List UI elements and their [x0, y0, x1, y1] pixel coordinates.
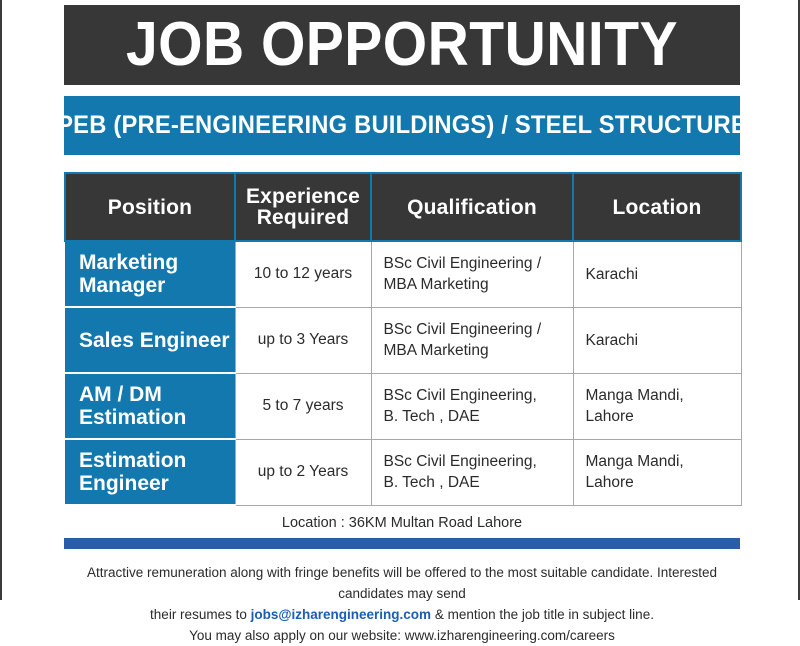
qualification-line2: MBA Marketing [384, 274, 573, 295]
cell-qualification: BSc Civil Engineering / MBA Marketing [371, 307, 573, 373]
cell-position: AM / DM Estimation [65, 373, 235, 439]
cell-experience: 10 to 12 years [235, 241, 371, 307]
content-column: JOB OPPORTUNITY PEB (PRE-ENGINEERING BUI… [64, 0, 740, 646]
position-line1: AM / DM [79, 383, 162, 406]
location-line1: Karachi [586, 266, 639, 283]
location-line2: Lahore [586, 472, 741, 493]
cell-location: Manga Mandi, Lahore [573, 373, 741, 439]
position-line1: Marketing [79, 251, 178, 274]
position-line1: Sales Engineer [79, 329, 230, 352]
job-advertisement-page: JOB OPPORTUNITY PEB (PRE-ENGINEERING BUI… [0, 0, 800, 600]
qualification-line2: B. Tech , DAE [384, 406, 573, 427]
table-row: Marketing Manager 10 to 12 years BSc Civ… [65, 241, 741, 307]
page-subtitle: PEB (PRE-ENGINEERING BUILDINGS) / STEEL … [57, 112, 747, 139]
footer: Attractive remuneration along with fring… [64, 562, 740, 646]
subtitle-banner: PEB (PRE-ENGINEERING BUILDINGS) / STEEL … [64, 96, 740, 155]
qualification-line1: BSc Civil Engineering, [384, 453, 537, 470]
table-header: Position Experience Required Qualificati… [65, 173, 741, 241]
column-header-location-label: Location [612, 196, 701, 219]
footer-line-1: Attractive remuneration along with fring… [64, 562, 740, 604]
footer-line-2: their resumes to jobs@izharengineering.c… [64, 604, 740, 625]
table-row: Estimation Engineer up to 2 Years BSc Ci… [65, 439, 741, 505]
footer-line-3: You may also apply on our website: www.i… [64, 625, 740, 646]
table-body: Marketing Manager 10 to 12 years BSc Civ… [65, 241, 741, 505]
qualification-line2: MBA Marketing [384, 340, 573, 361]
qualification-line1: BSc Civil Engineering / [384, 321, 542, 338]
cell-qualification: BSc Civil Engineering / MBA Marketing [371, 241, 573, 307]
cell-location: Karachi [573, 241, 741, 307]
column-header-qualification: Qualification [371, 173, 573, 241]
table-header-row: Position Experience Required Qualificati… [65, 173, 741, 241]
table-row: AM / DM Estimation 5 to 7 years BSc Civi… [65, 373, 741, 439]
page-title: JOB OPPORTUNITY [126, 14, 678, 76]
position-line2: Manager [79, 274, 235, 297]
cell-experience: up to 3 Years [235, 307, 371, 373]
position-line2: Estimation [79, 406, 235, 429]
title-banner: JOB OPPORTUNITY [64, 5, 740, 85]
cell-experience: up to 2 Years [235, 439, 371, 505]
cell-qualification: BSc Civil Engineering, B. Tech , DAE [371, 439, 573, 505]
footer-line-2-after: & mention the job title in subject line. [435, 607, 654, 622]
location-note: Location : 36KM Multan Road Lahore [64, 514, 740, 532]
qualification-line1: BSc Civil Engineering / [384, 255, 542, 272]
table-row: Sales Engineer up to 3 Years BSc Civil E… [65, 307, 741, 373]
location-line1: Manga Mandi, [586, 387, 684, 404]
qualification-line1: BSc Civil Engineering, [384, 387, 537, 404]
location-line1: Karachi [586, 332, 639, 349]
cell-position: Marketing Manager [65, 241, 235, 307]
cell-position: Sales Engineer [65, 307, 235, 373]
divider-bar [64, 538, 740, 549]
cell-position: Estimation Engineer [65, 439, 235, 505]
column-header-position-label: Position [108, 196, 192, 219]
column-header-experience-label-line2: Required [236, 207, 370, 228]
application-email-link[interactable]: jobs@izharengineering.com [251, 607, 431, 622]
column-header-experience: Experience Required [235, 173, 371, 241]
cell-experience: 5 to 7 years [235, 373, 371, 439]
column-header-position: Position [65, 173, 235, 241]
column-header-location: Location [573, 173, 741, 241]
cell-location: Karachi [573, 307, 741, 373]
position-line2: Engineer [79, 472, 235, 495]
column-header-qualification-label: Qualification [407, 196, 537, 219]
footer-line-2-before: their resumes to [150, 607, 247, 622]
cell-qualification: BSc Civil Engineering, B. Tech , DAE [371, 373, 573, 439]
location-line2: Lahore [586, 406, 741, 427]
position-line1: Estimation [79, 449, 186, 472]
cell-location: Manga Mandi, Lahore [573, 439, 741, 505]
column-header-experience-label-line1: Experience [246, 185, 360, 208]
jobs-table: Position Experience Required Qualificati… [64, 172, 742, 506]
qualification-line2: B. Tech , DAE [384, 472, 573, 493]
location-line1: Manga Mandi, [586, 453, 684, 470]
